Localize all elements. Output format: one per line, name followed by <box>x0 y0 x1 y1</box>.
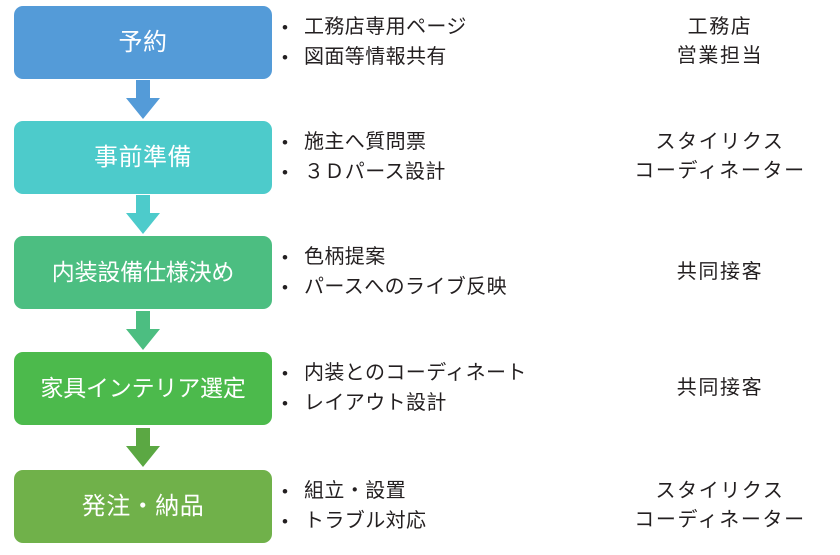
down-arrow-icon <box>123 311 163 351</box>
stage-box-3[interactable]: 内装設備仕様決め <box>14 236 272 309</box>
stage-owner: 工務店営業担当 <box>600 6 840 79</box>
bullet-text: ３Ｄパース設計 <box>304 160 446 186</box>
bullet-item: •３Ｄパース設計 <box>282 160 592 186</box>
bullet-point-icon: • <box>282 134 304 151</box>
stage-bullet-list: •内装とのコーディネート•レイアウト設計 <box>282 352 592 425</box>
bullet-item: •内装とのコーディネート <box>282 361 592 387</box>
stage-owner: スタイリクスコーディネーター <box>600 121 840 194</box>
stage-label: 発注・納品 <box>82 495 205 519</box>
down-arrow-icon <box>123 428 163 468</box>
bullet-item: •組立・設置 <box>282 479 592 505</box>
bullet-point-icon: • <box>282 249 304 266</box>
bullet-text: 施主へ質問票 <box>304 130 426 156</box>
bullet-point-icon: • <box>282 279 304 296</box>
down-arrow-icon <box>123 195 163 235</box>
process-step-row: 家具インテリア選定•内装とのコーディネート•レイアウト設計共同接客 <box>0 352 840 425</box>
process-step-row: 内装設備仕様決め•色柄提案•パースへのライブ反映共同接客 <box>0 236 840 309</box>
stage-bullet-list: •工務店専用ページ•図面等情報共有 <box>282 6 592 79</box>
bullet-point-icon: • <box>282 164 304 181</box>
owner-text: 営業担当 <box>677 44 763 70</box>
owner-text: スタイリクス <box>656 479 785 505</box>
process-flow-diagram: 予約•工務店専用ページ•図面等情報共有工務店営業担当事前準備•施主へ質問票•３Ｄ… <box>0 0 840 555</box>
process-step-row: 予約•工務店専用ページ•図面等情報共有工務店営業担当 <box>0 6 840 79</box>
stage-bullet-list: •組立・設置•トラブル対応 <box>282 470 592 543</box>
bullet-item: •レイアウト設計 <box>282 391 592 417</box>
bullet-item: •色柄提案 <box>282 245 592 271</box>
owner-text: 工務店 <box>688 15 753 41</box>
bullet-text: 内装とのコーディネート <box>304 361 527 387</box>
stage-label: 家具インテリア選定 <box>40 377 245 400</box>
bullet-item: •図面等情報共有 <box>282 45 592 71</box>
bullet-point-icon: • <box>282 395 304 412</box>
bullet-text: 色柄提案 <box>304 245 386 271</box>
stage-box-5[interactable]: 発注・納品 <box>14 470 272 543</box>
bullet-item: •トラブル対応 <box>282 509 592 535</box>
bullet-point-icon: • <box>282 365 304 382</box>
stage-box-2[interactable]: 事前準備 <box>14 121 272 194</box>
bullet-point-icon: • <box>282 19 304 36</box>
stage-owner: 共同接客 <box>600 236 840 309</box>
bullet-point-icon: • <box>282 513 304 530</box>
process-step-row: 事前準備•施主へ質問票•３Ｄパース設計スタイリクスコーディネーター <box>0 121 840 194</box>
stage-bullet-list: •色柄提案•パースへのライブ反映 <box>282 236 592 309</box>
stage-box-4[interactable]: 家具インテリア選定 <box>14 352 272 425</box>
down-arrow-icon <box>123 80 163 120</box>
bullet-point-icon: • <box>282 49 304 66</box>
stage-bullet-list: •施主へ質問票•３Ｄパース設計 <box>282 121 592 194</box>
stage-owner: 共同接客 <box>600 352 840 425</box>
bullet-text: 工務店専用ページ <box>304 15 467 41</box>
owner-text: 共同接客 <box>677 376 763 402</box>
bullet-text: 図面等情報共有 <box>304 45 447 71</box>
bullet-text: 組立・設置 <box>304 479 406 505</box>
owner-text: コーディネーター <box>634 159 805 185</box>
bullet-point-icon: • <box>282 483 304 500</box>
bullet-text: トラブル対応 <box>304 509 426 535</box>
owner-text: コーディネーター <box>634 508 805 534</box>
owner-text: 共同接客 <box>677 260 763 286</box>
bullet-item: •施主へ質問票 <box>282 130 592 156</box>
stage-label: 事前準備 <box>94 146 192 170</box>
process-step-row: 発注・納品•組立・設置•トラブル対応スタイリクスコーディネーター <box>0 470 840 543</box>
owner-text: スタイリクス <box>656 130 785 156</box>
bullet-text: パースへのライブ反映 <box>304 275 507 301</box>
stage-label: 内装設備仕様決め <box>52 261 234 284</box>
stage-label: 予約 <box>119 31 168 55</box>
bullet-item: •パースへのライブ反映 <box>282 275 592 301</box>
bullet-item: •工務店専用ページ <box>282 15 592 41</box>
bullet-text: レイアウト設計 <box>304 391 447 417</box>
stage-box-1[interactable]: 予約 <box>14 6 272 79</box>
stage-owner: スタイリクスコーディネーター <box>600 470 840 543</box>
